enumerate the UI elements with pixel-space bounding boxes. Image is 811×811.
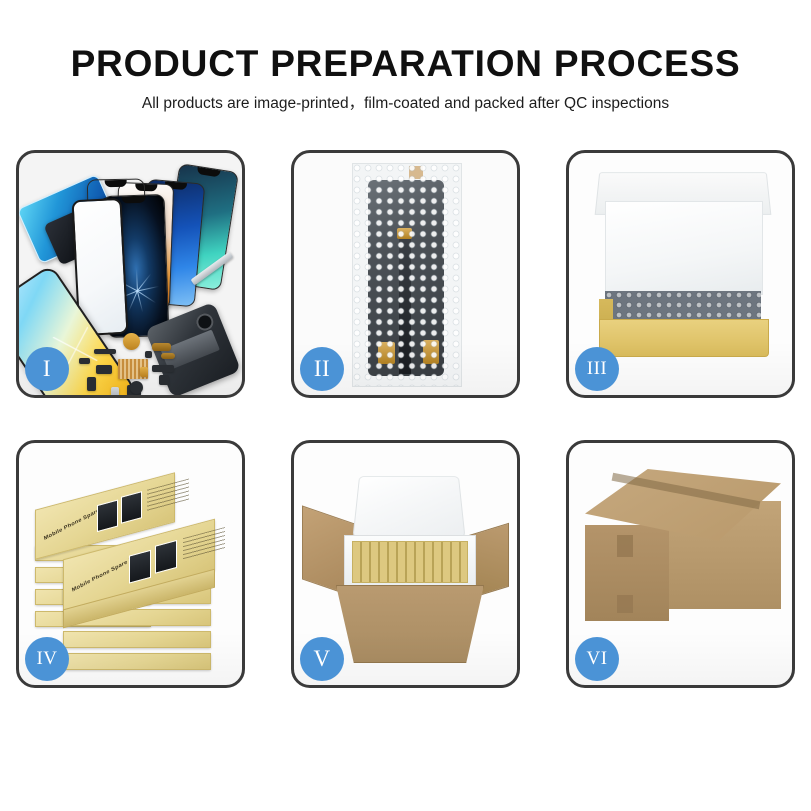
sim-tray-part-icon: [111, 387, 119, 395]
speaker-part-icon: [94, 349, 116, 354]
stacked-box: [63, 653, 211, 670]
taptic-part-icon: [130, 381, 143, 394]
flex-ribbon-part-icon: [152, 365, 174, 372]
notch-icon: [105, 180, 128, 187]
step-badge-4: IV: [25, 637, 69, 681]
gold-connector-icon: [397, 228, 412, 239]
connector-part-icon: [96, 365, 112, 374]
box-thumbnail-icon: [121, 491, 142, 524]
foam-lid-icon: [352, 476, 465, 537]
notch-icon: [122, 196, 146, 204]
page-title: PRODUCT PREPARATION PROCESS: [0, 44, 811, 84]
flex-cable-part-icon: [152, 343, 171, 351]
yellow-box-front-icon: [599, 319, 769, 357]
process-step-panel-2: II: [291, 150, 520, 398]
box-top: [63, 631, 211, 648]
connector-part-icon: [87, 377, 96, 391]
box-top: [63, 653, 211, 670]
flex-cable-icon: [399, 234, 411, 374]
page-subtitle: All products are image-printed，film-coat…: [0, 95, 811, 114]
page-header: PRODUCT PREPARATION PROCESS All products…: [0, 0, 811, 114]
bubble-wrap-bag-icon: [352, 163, 462, 387]
step-badge-1: I: [25, 347, 69, 391]
process-step-panel-3: III: [566, 150, 795, 398]
step-badge-6: VI: [575, 637, 619, 681]
carton-body-icon: [336, 585, 484, 663]
small-flex-part-icon: [79, 358, 90, 364]
flex-cable-part-icon: [161, 353, 175, 359]
notch-icon: [197, 167, 221, 178]
foam-sheet-icon: [605, 201, 763, 295]
home-button-part-icon: [123, 333, 140, 350]
tape-tab-icon: [409, 166, 423, 179]
battery-connector-part-icon: [140, 367, 148, 377]
process-step-grid: I II III: [16, 150, 795, 688]
screen-assembly-icon: [368, 180, 444, 376]
packing-tape-icon: [617, 535, 633, 557]
bubble-wrapped-contents-icon: [605, 291, 761, 321]
stacked-box: [63, 631, 211, 648]
step-badge-2: II: [300, 347, 344, 391]
step-badge-3: III: [575, 347, 619, 391]
box-thumbnail-icon: [97, 500, 118, 533]
screw-part-icon: [145, 351, 152, 358]
box-thumbnail-icon: [155, 540, 177, 574]
packed-boxes-icon: [352, 541, 468, 583]
packing-tape-icon: [617, 595, 633, 613]
process-step-panel-5: V: [291, 440, 520, 688]
process-step-panel-6: VI: [566, 440, 795, 688]
gold-connector-icon: [378, 342, 395, 364]
process-step-panel-1: I: [16, 150, 245, 398]
box-stack-group: Mobile Phone Spare Parts Mobile Phone Sp…: [35, 467, 235, 667]
camera-module-part-icon: [159, 375, 169, 385]
step-badge-5: V: [300, 637, 344, 681]
process-step-panel-4: Mobile Phone Spare Parts Mobile Phone Sp…: [16, 440, 245, 688]
gold-connector-icon: [423, 340, 439, 364]
box-thumbnail-icon: [129, 550, 151, 584]
